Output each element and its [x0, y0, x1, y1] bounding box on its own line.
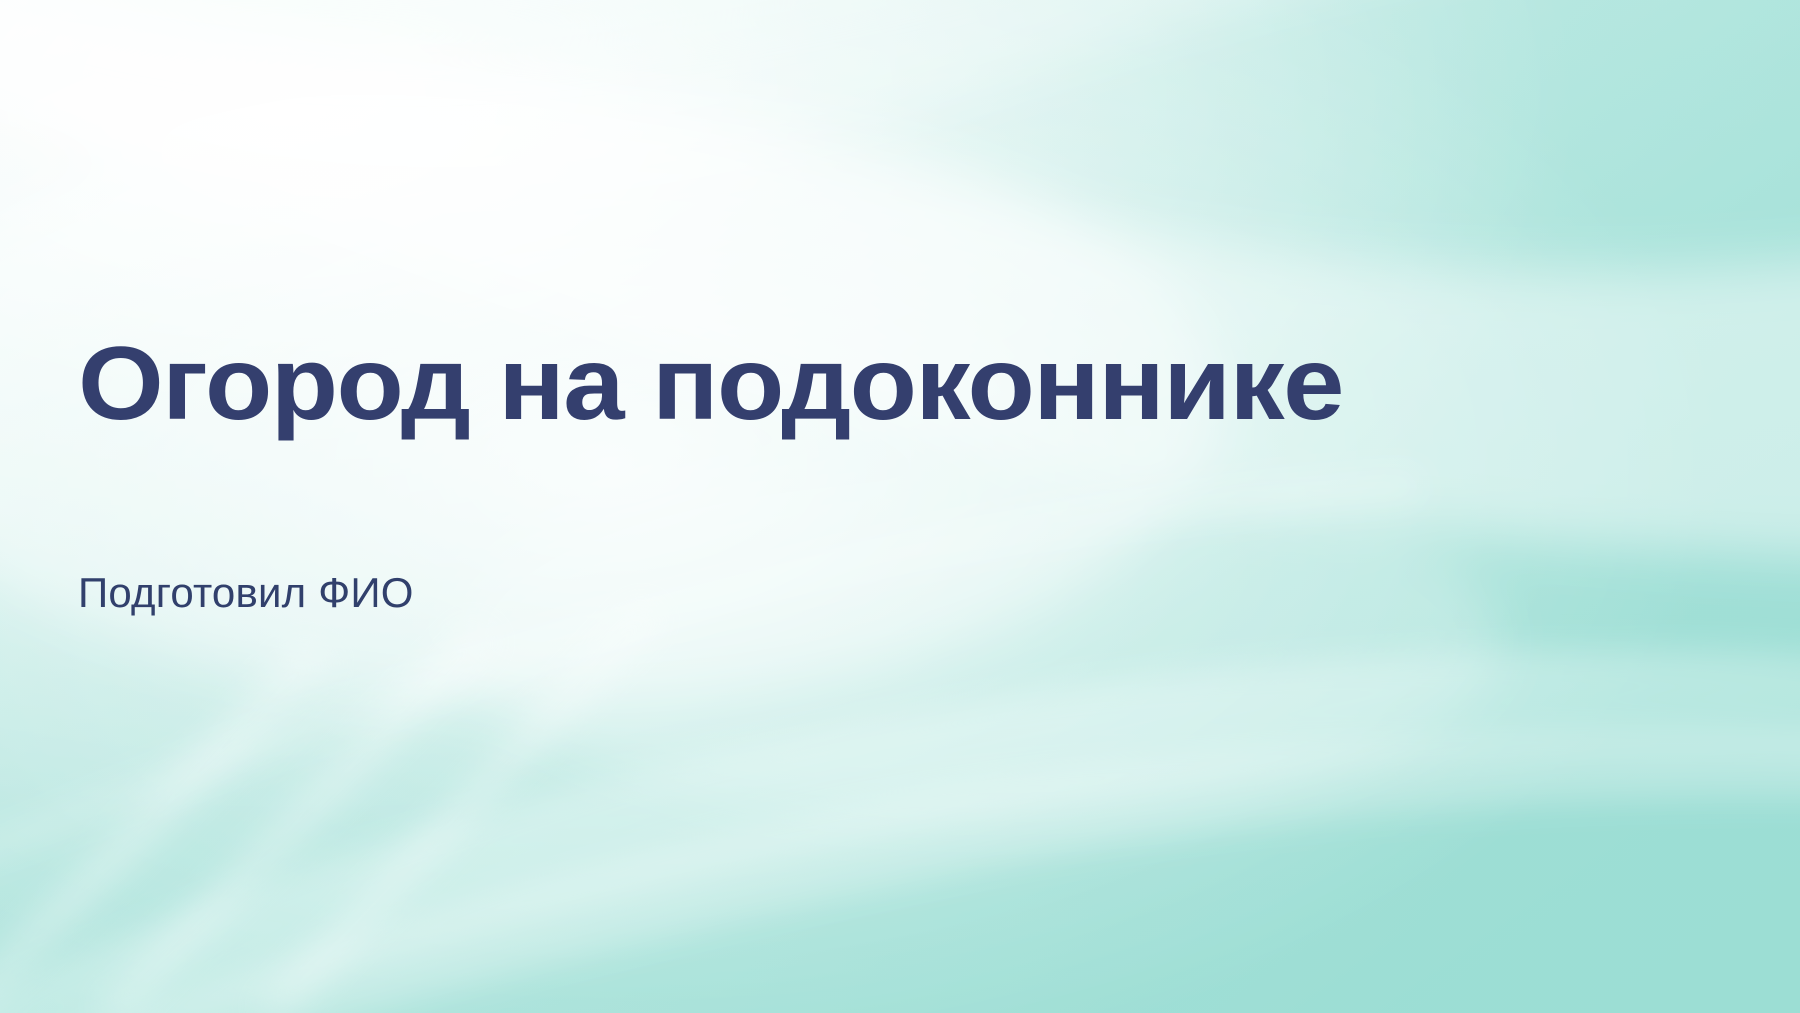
- slide-subtitle-author: Подготовил ФИО: [78, 568, 414, 618]
- slide-content: Огород на подоконнике Подготовил ФИО: [78, 0, 1718, 1013]
- page-title: Огород на подоконнике: [78, 332, 1343, 436]
- title-slide: Огород на подоконнике Подготовил ФИО: [0, 0, 1800, 1013]
